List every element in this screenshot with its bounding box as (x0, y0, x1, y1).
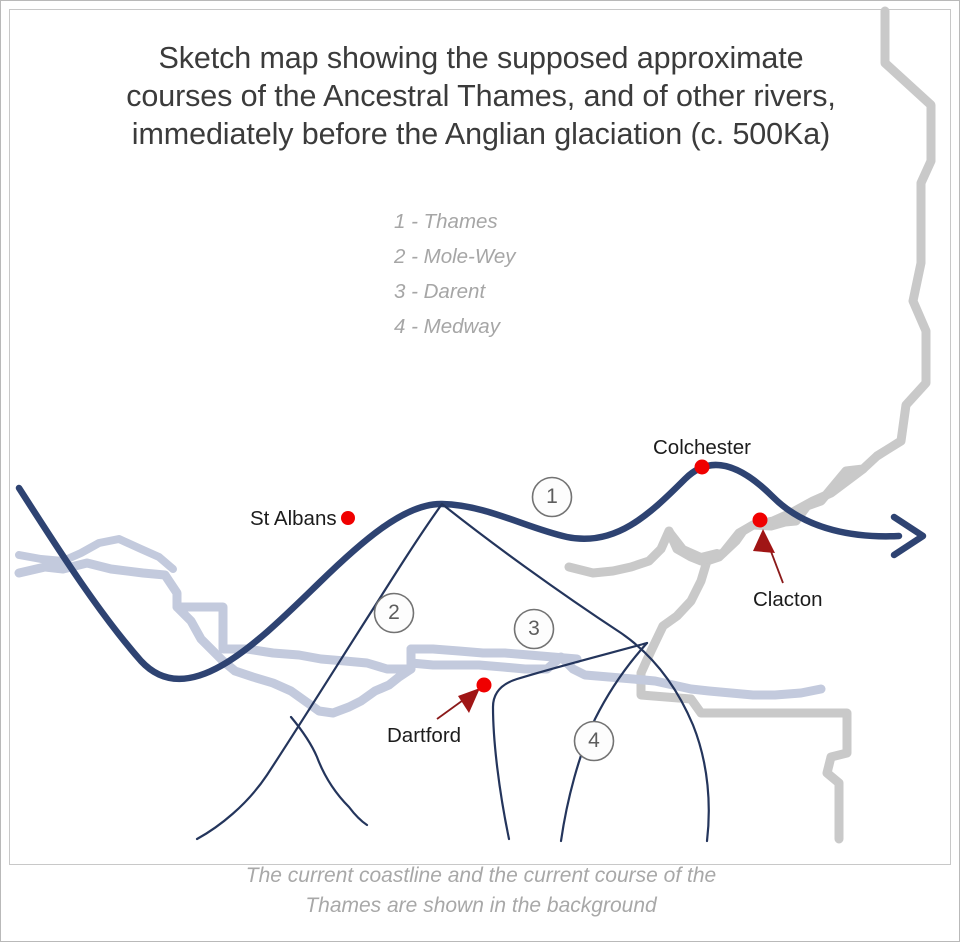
colchester-dot (695, 460, 710, 475)
legend-item-mole-wey: 2 - Mole-Wey (394, 239, 516, 274)
caption-line-1: The current coastline and the current co… (131, 861, 831, 891)
title-line-1: Sketch map showing the supposed approxim… (61, 39, 901, 77)
clacton-dot (753, 513, 768, 528)
river-legend: 1 - Thames 2 - Mole-Wey 3 - Darent 4 - M… (394, 204, 516, 344)
place-label-clacton: Clacton (753, 588, 823, 612)
clacton-arrow-head (753, 529, 775, 553)
river-marker-label-4: 4 (574, 721, 614, 761)
title-line-3: immediately before the Anglian glaciatio… (61, 115, 901, 153)
place-label-dartford: Dartford (387, 724, 461, 748)
legend-item-medway: 4 - Medway (394, 309, 516, 344)
background-coastline-north-inlet (569, 469, 863, 573)
figure-title: Sketch map showing the supposed approxim… (61, 39, 901, 153)
legend-item-darent: 3 - Darent (394, 274, 516, 309)
river-marker-label-2: 2 (374, 593, 414, 633)
place-label-colchester: Colchester (653, 436, 751, 460)
sketch-map-figure: Sketch map showing the supposed approxim… (0, 0, 960, 942)
st-albans-dot (341, 511, 355, 525)
river-marker-label-3: 3 (514, 609, 554, 649)
dartford-dot (477, 678, 492, 693)
legend-item-thames: 1 - Thames (394, 204, 516, 239)
dartford-arrow-head (458, 688, 480, 713)
mole-wey-tributary-branch (291, 717, 367, 825)
place-label-st-albans: St Albans (250, 507, 337, 531)
caption-line-2: Thames are shown in the background (131, 891, 831, 921)
figure-caption: The current coastline and the current co… (131, 861, 831, 921)
river-marker-label-1: 1 (532, 477, 572, 517)
title-line-2: courses of the Ancestral Thames, and of … (61, 77, 901, 115)
